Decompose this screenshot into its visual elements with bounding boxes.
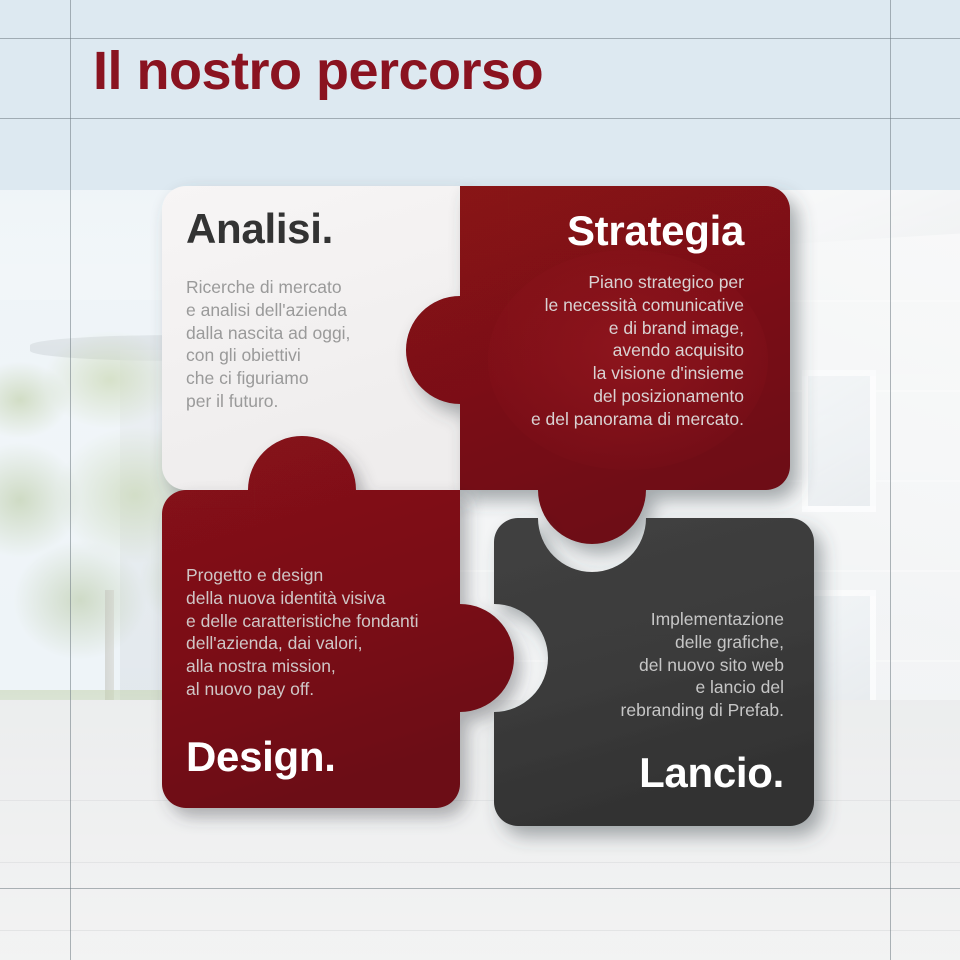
design-body-line: al nuovo pay off.	[186, 678, 486, 701]
analisi-heading-wrap: Analisi.	[186, 205, 416, 253]
lancio-body-line: rebranding di Prefab.	[556, 699, 784, 722]
lancio-heading: Lancio.	[534, 749, 784, 797]
analisi-heading: Analisi.	[186, 205, 416, 253]
design-heading-wrap: Design.	[186, 733, 436, 781]
lancio-body-line: Implementazione	[556, 608, 784, 631]
strategia-body-line: del posizionamento	[484, 385, 744, 408]
strategia-body-line: la visione d'insieme	[484, 362, 744, 385]
design-heading: Design.	[186, 733, 436, 781]
design-body-line: Progetto e design	[186, 564, 486, 587]
design-body-line: alla nostra mission,	[186, 655, 486, 678]
design-body: Progetto e design della nuova identità v…	[186, 564, 486, 701]
analisi-body: Ricerche di mercato e analisi dell'azien…	[186, 276, 401, 413]
lancio-body: Implementazione delle grafiche, del nuov…	[556, 608, 784, 722]
strategia-body-line: e di brand image,	[484, 317, 744, 340]
analisi-body-line: Ricerche di mercato	[186, 276, 401, 299]
puzzle-graphic	[0, 0, 960, 960]
strategia-body: Piano strategico per le necessità comuni…	[484, 271, 744, 430]
strategia-body-line: e del panorama di mercato.	[484, 408, 744, 431]
slide-canvas: Il nostro percorso	[0, 0, 960, 960]
analisi-body-line: per il futuro.	[186, 390, 401, 413]
lancio-heading-wrap: Lancio.	[534, 749, 784, 797]
strategia-heading-wrap: Strategia	[500, 207, 744, 255]
strategia-body-line: avendo acquisito	[484, 339, 744, 362]
lancio-body-line: delle grafiche,	[556, 631, 784, 654]
design-body-line: e delle caratteristiche fondanti	[186, 610, 486, 633]
analisi-body-line: che ci figuriamo	[186, 367, 401, 390]
lancio-body-line: e lancio del	[556, 676, 784, 699]
strategia-body-line: Piano strategico per	[484, 271, 744, 294]
design-body-line: dell'azienda, dai valori,	[186, 632, 486, 655]
strategia-heading: Strategia	[500, 207, 744, 255]
lancio-body-line: del nuovo sito web	[556, 654, 784, 677]
strategia-body-line: le necessità comunicative	[484, 294, 744, 317]
analisi-body-line: con gli obiettivi	[186, 344, 401, 367]
design-body-line: della nuova identità visiva	[186, 587, 486, 610]
analisi-body-line: dalla nascita ad oggi,	[186, 322, 401, 345]
analisi-body-line: e analisi dell'azienda	[186, 299, 401, 322]
